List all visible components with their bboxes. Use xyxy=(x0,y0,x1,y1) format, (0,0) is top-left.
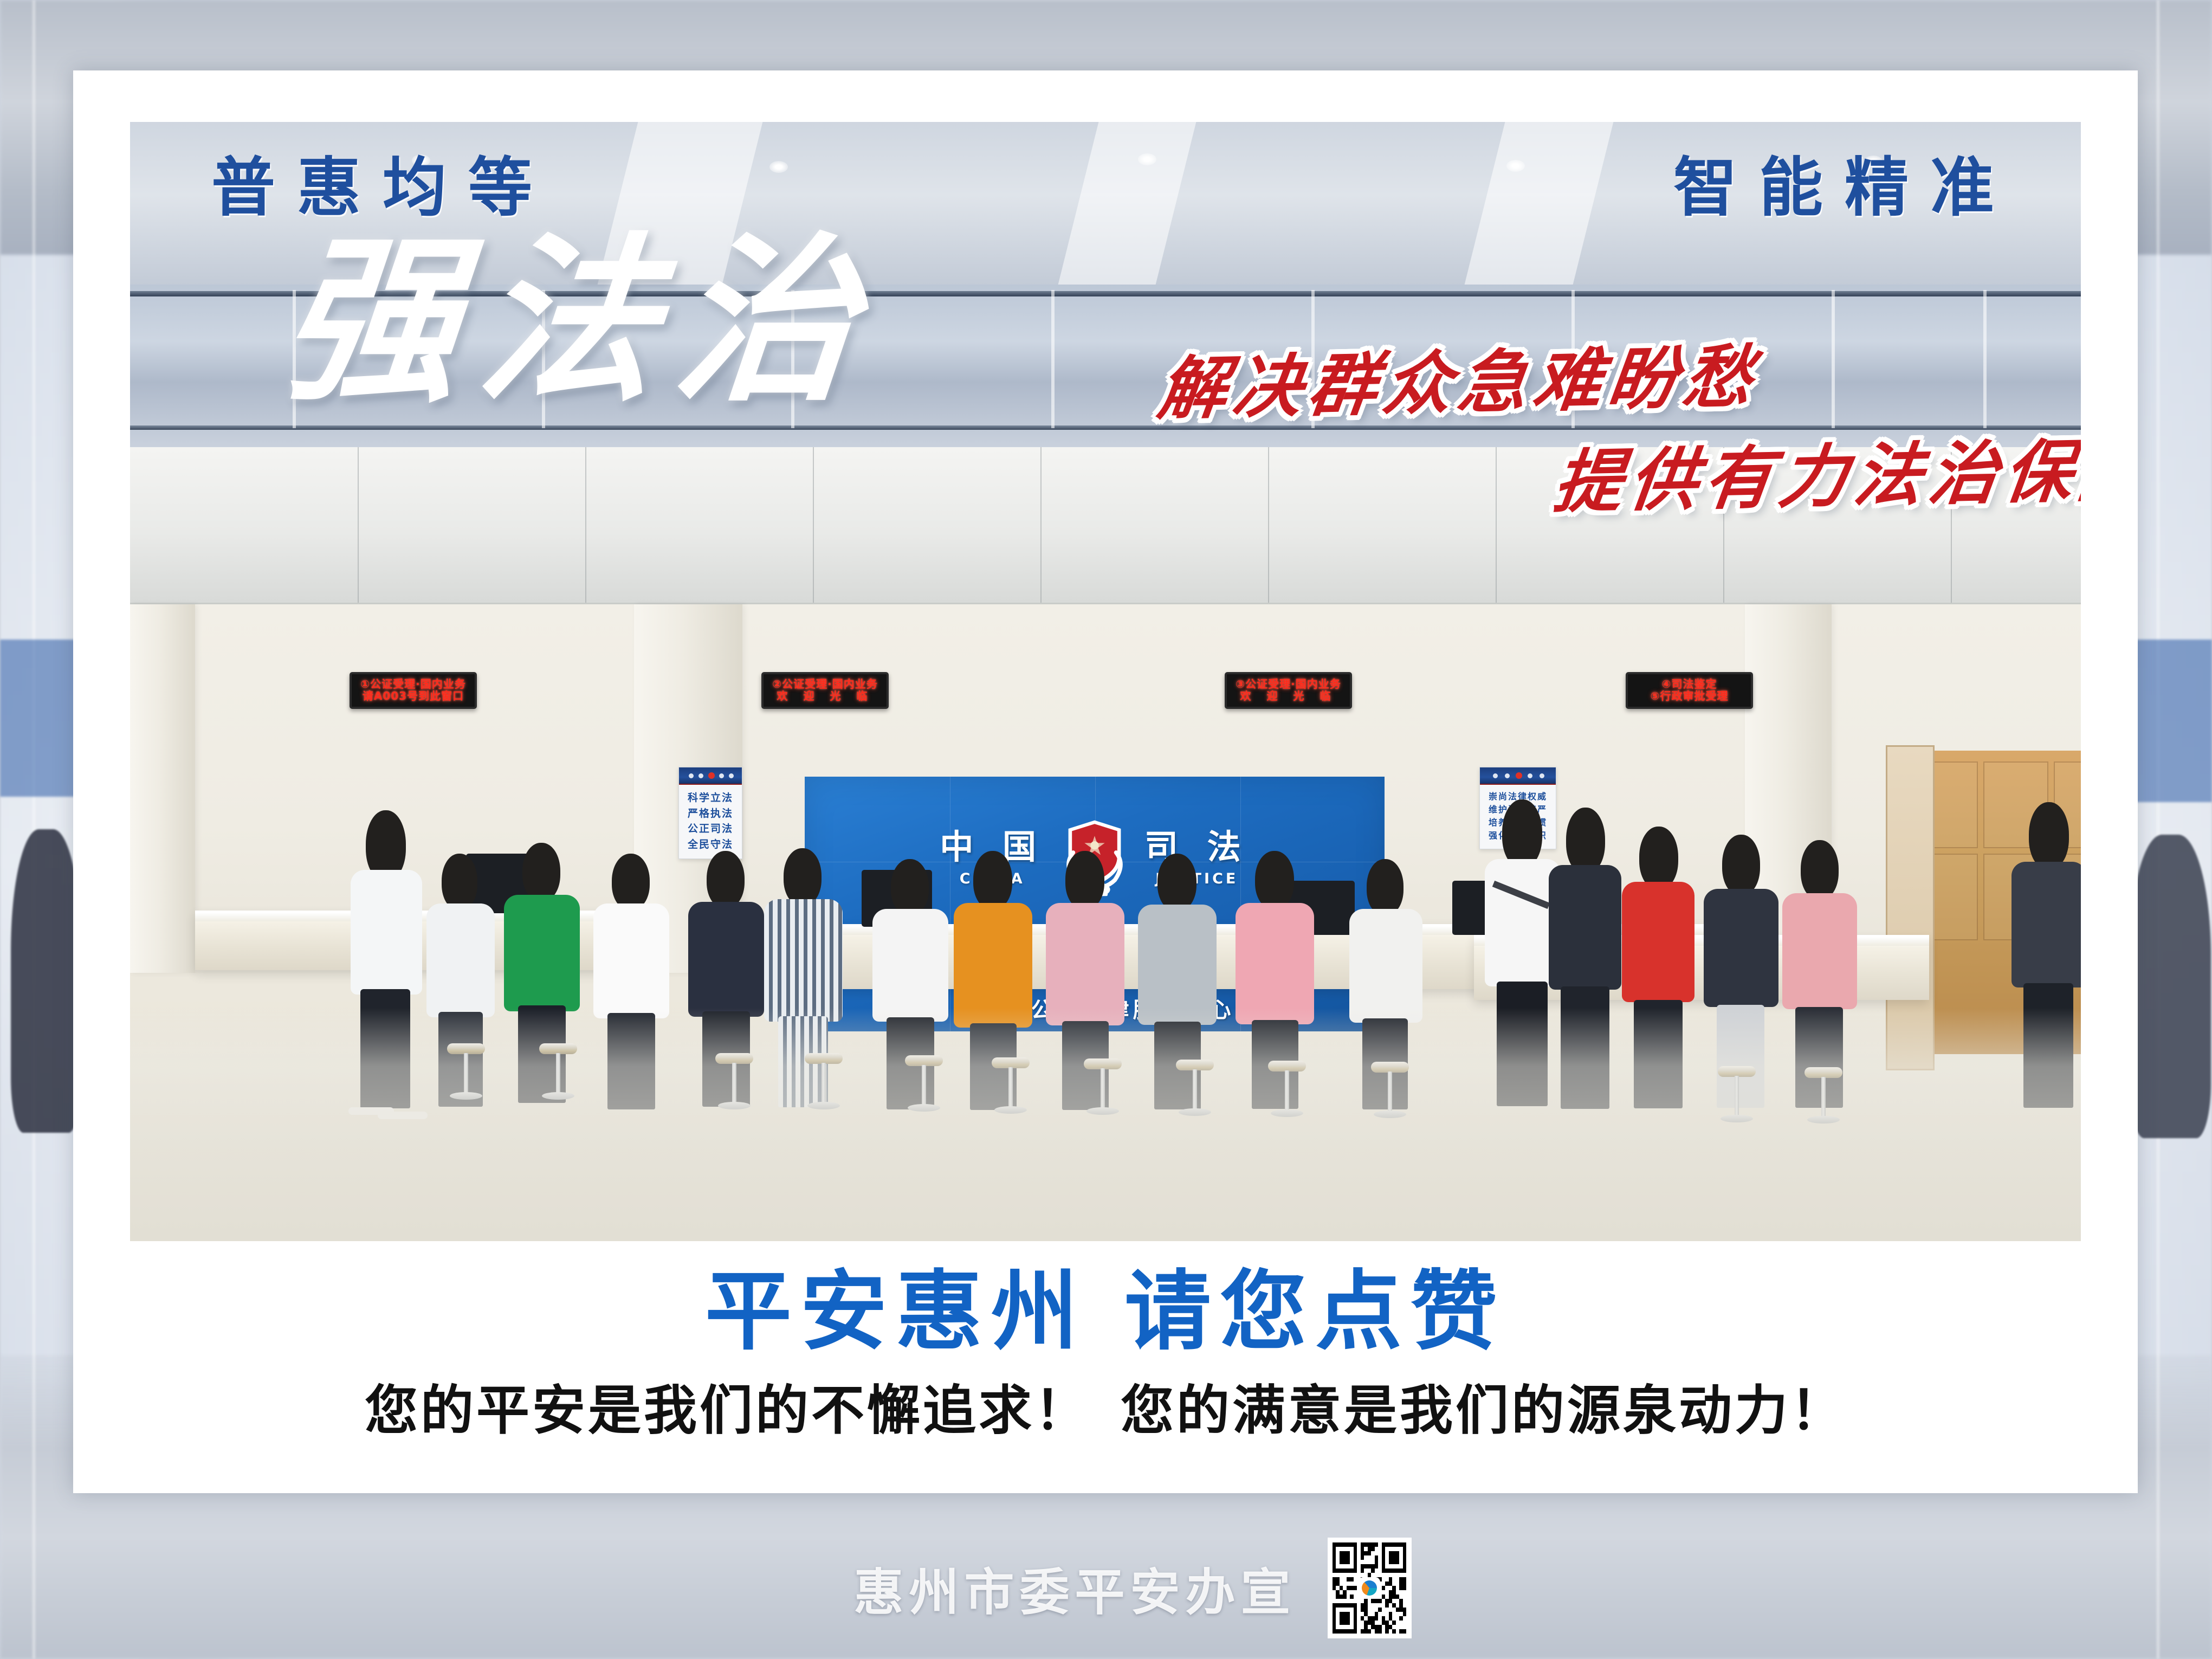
counter-stool xyxy=(1371,1062,1409,1122)
poster-headline: 平安惠州请您点赞 xyxy=(130,1263,2081,1360)
background-glass-mullion xyxy=(33,0,35,1659)
wood-door xyxy=(1886,745,1935,1070)
red-slogan-line-2: 提供有力法治保障 xyxy=(1550,435,2081,516)
background-person xyxy=(11,829,81,1133)
counter-stool xyxy=(539,1043,577,1104)
footer-credit-text: 惠州市委平安办宣 xyxy=(853,1552,1296,1624)
soffit-slogan-left: 普惠均等 xyxy=(211,156,554,220)
ceiling-downlight xyxy=(769,161,788,173)
soffit-slogan-right: 智能精准 xyxy=(1673,156,2016,220)
led-window-sign-3: ③公证受理·国内业务 欢 迎 光 临 xyxy=(1225,672,1352,709)
person-seated-white xyxy=(593,854,669,1108)
mezzanine-rail-bottom xyxy=(130,425,2081,430)
person-standing-red xyxy=(1618,827,1699,1108)
poster-subheadline: 您的平安是我们的不懈追求！您的满意是我们的源泉动力！ xyxy=(130,1379,2081,1443)
glass-mullion xyxy=(1832,290,1835,428)
red-slogan-line-1: 解决群众急难盼愁 xyxy=(1155,342,1763,423)
ceiling-downlight xyxy=(1506,160,1525,172)
counter-stool xyxy=(1084,1058,1122,1119)
poster-white-frame: 普惠均等 智能精准 中 国 CHINA xyxy=(73,70,2138,1493)
hero-photograph: 普惠均等 智能精准 中 国 CHINA xyxy=(130,122,2081,1241)
led-sign-2-line-2: 欢 迎 光 临 xyxy=(777,690,874,702)
brush-calligraphy-headline: 强法治 xyxy=(274,236,881,406)
placard-header-banner xyxy=(679,767,742,785)
subheadline-part-1: 您的平安是我们的不懈追求！ xyxy=(365,1380,1090,1442)
poster-footer: 惠州市委平安办宣 xyxy=(748,1534,1517,1642)
background-person xyxy=(2130,835,2211,1138)
led-sign-3-line-2: 欢 迎 光 临 xyxy=(1240,690,1337,702)
subheadline-part-2: 您的满意是我们的源泉动力！ xyxy=(1121,1380,1846,1442)
led-sign-2-line-1: ②公证受理·国内业务 xyxy=(772,679,878,690)
background-blue-placard xyxy=(0,640,81,797)
placard-left-line-3: 公正司法 xyxy=(679,821,742,837)
placard-left-line-4: 全民守法 xyxy=(679,837,742,853)
led-window-sign-4: ④司法鉴定 ⑤行政审批受理 xyxy=(1626,672,1753,709)
counter-stool xyxy=(1804,1067,1842,1128)
counter-stool xyxy=(992,1057,1030,1118)
headline-part-1: 平安惠州 xyxy=(705,1261,1086,1362)
ceiling-downlight xyxy=(1138,153,1156,165)
glass-mullion xyxy=(1051,290,1055,428)
counter-stool xyxy=(805,1053,843,1114)
pillar-placard-left: 科学立法 严格执法 公正司法 全民守法 xyxy=(678,767,742,859)
led-window-sign-2: ②公证受理·国内业务 欢 迎 光 临 xyxy=(761,672,889,709)
background-glass-mullion xyxy=(2157,0,2159,1659)
placard-left-line-2: 严格执法 xyxy=(679,806,742,822)
placard-text-block: 科学立法 严格执法 公正司法 全民守法 xyxy=(679,785,742,858)
led-window-sign-1: ①公证受理·国内业务 请A003号到此窗口 xyxy=(350,672,477,709)
hall-pillar xyxy=(130,604,195,973)
placard-left-line-1: 科学立法 xyxy=(679,790,742,806)
qr-code[interactable] xyxy=(1328,1538,1412,1638)
glass-mullion xyxy=(1983,290,1987,428)
led-sign-3-line-1: ③公证受理·国内业务 xyxy=(1236,679,1341,690)
counter-stool xyxy=(905,1055,943,1116)
poster-caption-block: 平安惠州请您点赞 您的平安是我们的不懈追求！您的满意是我们的源泉动力！ xyxy=(130,1263,2081,1443)
led-sign-4-line-2: ⑤行政审批受理 xyxy=(1651,690,1729,702)
counter-stool xyxy=(447,1043,485,1104)
headline-part-2: 请您点赞 xyxy=(1124,1261,1506,1362)
counter-stool xyxy=(1268,1061,1306,1121)
led-sign-1-line-2: 请A003号到此窗口 xyxy=(363,690,464,702)
person-standing-staff xyxy=(344,810,431,1114)
counter-stool xyxy=(1176,1060,1214,1120)
qr-center-logo-icon xyxy=(1359,1577,1380,1599)
person-standing-dark xyxy=(1544,808,1626,1108)
led-sign-4-line-1: ④司法鉴定 xyxy=(1662,679,1717,690)
placard-header-banner xyxy=(1480,767,1556,785)
counter-stool xyxy=(715,1053,753,1114)
person-standing-right xyxy=(2005,802,2081,1114)
counter-stool xyxy=(1718,1066,1756,1127)
led-sign-1-line-1: ①公证受理·国内业务 xyxy=(360,679,466,690)
